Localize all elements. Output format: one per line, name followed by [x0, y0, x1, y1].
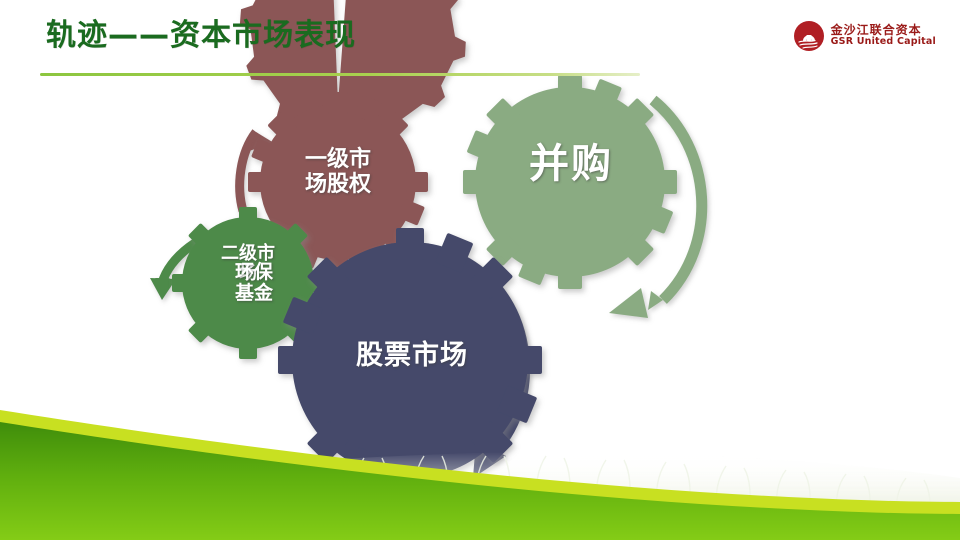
- logo-text-block: 金沙江联合资本 GSR United Capital: [831, 24, 936, 48]
- slide: 一级市 场股权 二级市 场 环保 基金 并购 股票市场: [0, 0, 960, 540]
- logo-name-cn: 金沙江联合资本: [831, 24, 936, 37]
- title-underline: [40, 73, 640, 76]
- gear-cycle-diagram: 一级市 场股权 二级市 场 环保 基金 并购 股票市场: [0, 0, 960, 540]
- diagram-svg: [0, 0, 960, 540]
- page-title: 轨迹——资本市场表现: [46, 14, 356, 58]
- company-logo: 金沙江联合资本 GSR United Capital: [793, 20, 936, 52]
- gear-stock-market[interactable]: [278, 228, 542, 492]
- gsr-circular-mark-icon: [793, 20, 825, 52]
- title-block: 轨迹——资本市场表现: [0, 14, 700, 70]
- logo-name-en: GSR United Capital: [831, 37, 936, 48]
- gear-mergers-acquisitions[interactable]: [463, 75, 677, 289]
